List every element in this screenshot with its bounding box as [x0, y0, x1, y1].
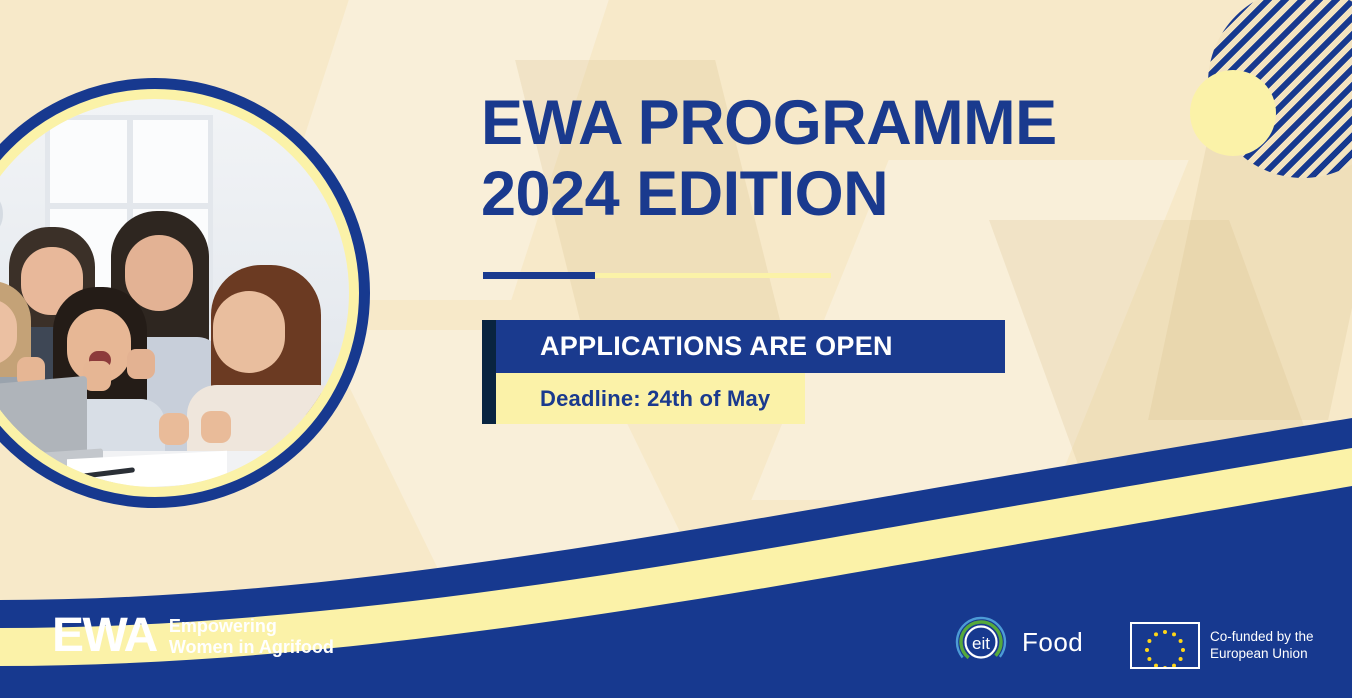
deadline-label: Deadline: 24th of May [540, 386, 770, 412]
eu-stars [1132, 624, 1198, 667]
headline-line-1: EWA PROGRAMME [481, 88, 1057, 158]
eu-text-line-1: Co-funded by the [1210, 629, 1314, 646]
eit-food-label: Food [1022, 627, 1083, 658]
team-photo-circle [0, 78, 370, 508]
ewa-wordmark: EWA [52, 612, 157, 660]
eu-cofunding-text: Co-funded by the European Union [1210, 629, 1314, 663]
ewa-logo: EWA Empowering Women in Agrifood [52, 612, 334, 660]
eit-circle-icon: eit [950, 613, 1012, 671]
accent-bar [482, 320, 496, 424]
divider-yellow-segment [595, 273, 831, 278]
page-title: EWA PROGRAMME 2024 EDITION [481, 88, 1181, 229]
eu-cofunding-badge: Co-funded by the European Union [1130, 622, 1314, 669]
title-divider [483, 272, 831, 279]
deadline-banner: Deadline: 24th of May [496, 373, 805, 424]
ewa-tagline-line-1: Empowering [169, 616, 334, 637]
applications-label: APPLICATIONS ARE OPEN [540, 331, 893, 362]
ewa-tagline-line-2: Women in Agrifood [169, 637, 334, 658]
svg-text:eit: eit [972, 634, 990, 653]
ewa-tagline: Empowering Women in Agrifood [169, 616, 334, 658]
divider-navy-segment [483, 272, 595, 279]
eit-food-logo: eit Food [950, 613, 1083, 671]
eu-text-line-2: European Union [1210, 646, 1314, 663]
ewa-promo-banner: EWA PROGRAMME 2024 EDITION APPLICATIONS … [0, 0, 1352, 698]
eu-flag-icon [1130, 622, 1200, 669]
headline-line-2: 2024 EDITION [481, 159, 1181, 230]
applications-banner: APPLICATIONS ARE OPEN [496, 320, 1005, 373]
